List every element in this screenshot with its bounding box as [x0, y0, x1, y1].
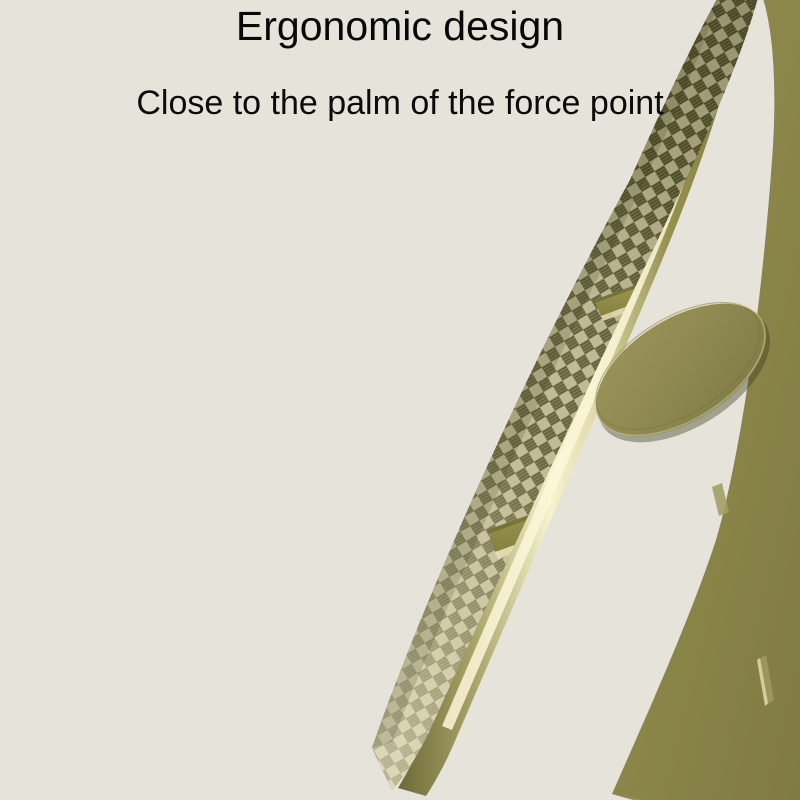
page-title: Ergonomic design — [0, 2, 800, 50]
page-subtitle: Close to the palm of the force point — [0, 82, 800, 124]
product-marketing-image: Ergonomic design Close to the palm of th… — [0, 0, 800, 800]
